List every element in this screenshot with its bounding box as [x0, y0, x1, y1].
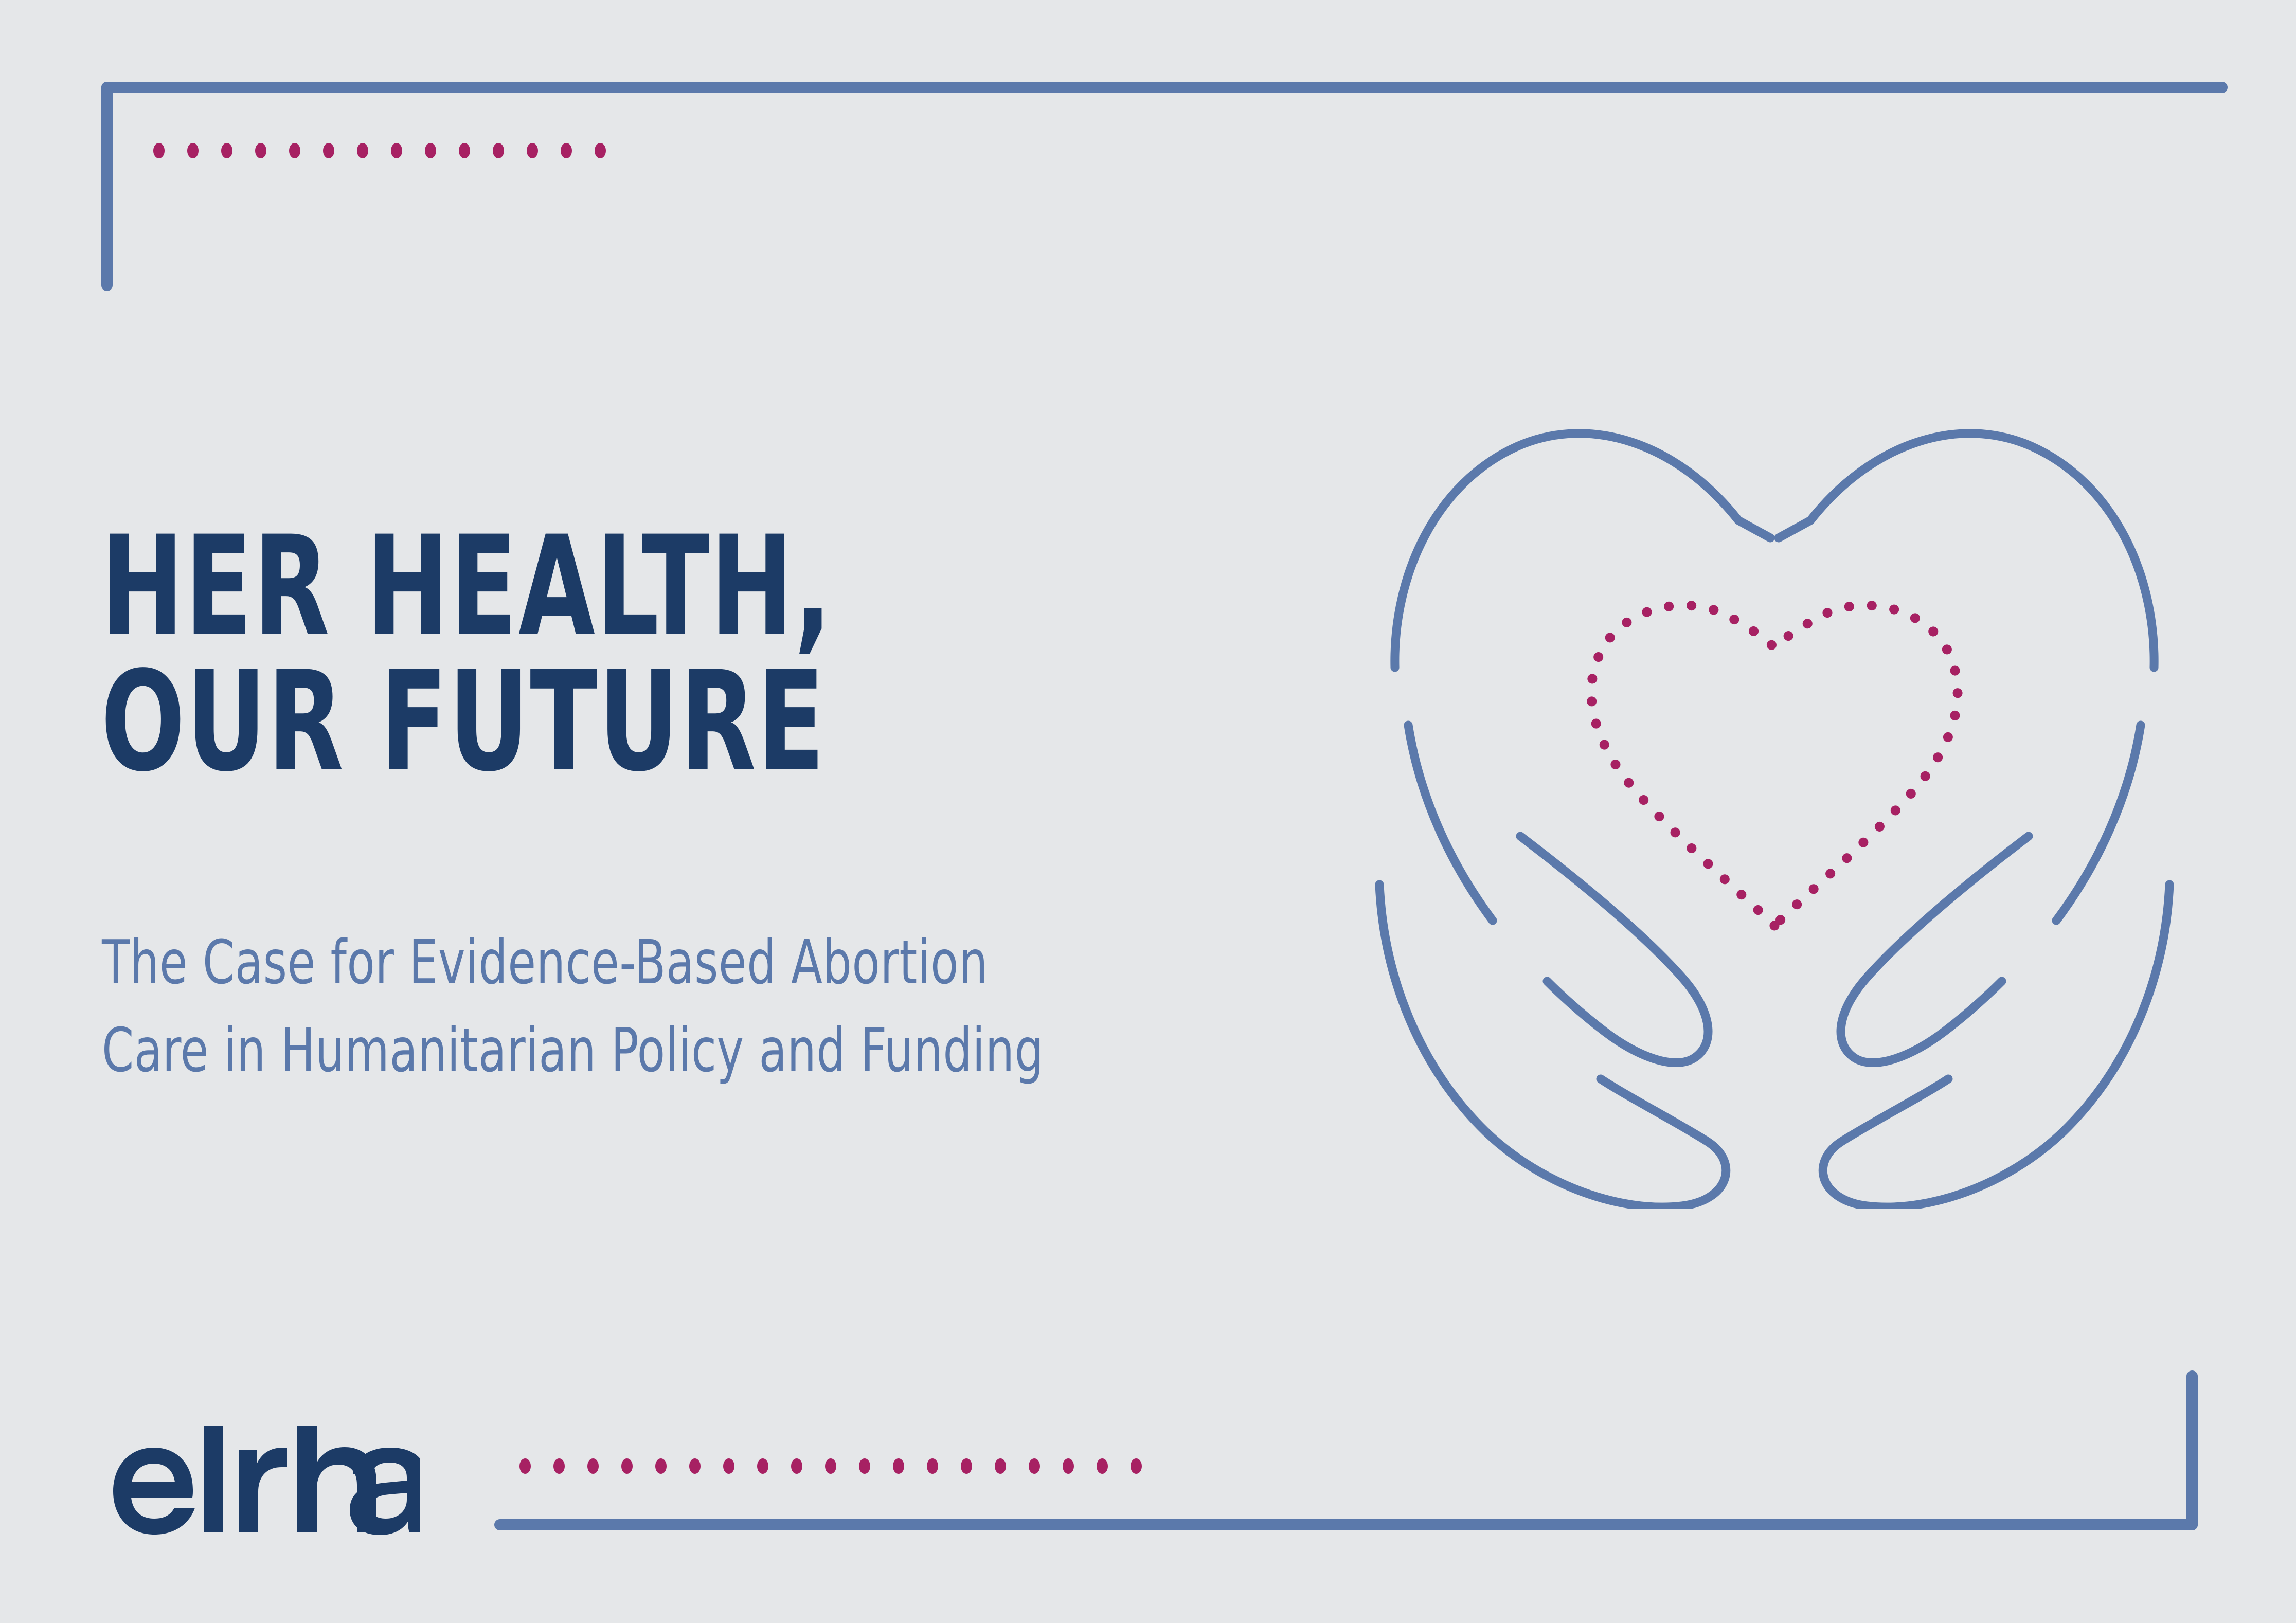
- heart-outline-icon: [1379, 434, 2169, 1207]
- dot: [791, 1458, 802, 1474]
- dot: [187, 143, 199, 158]
- dot: [1029, 1458, 1040, 1474]
- dot: [595, 143, 606, 158]
- dot: [519, 1458, 531, 1474]
- page-subtitle-line-2: Care in Humanitarian Policy and Funding: [102, 1006, 1225, 1094]
- cover-page: HER HEALTH, OUR FUTURE The Case for Evid…: [0, 0, 2296, 1623]
- dot: [289, 143, 300, 158]
- dot: [1131, 1458, 1142, 1474]
- page-title-line-2: OUR FUTURE: [101, 655, 1088, 790]
- dot: [1063, 1458, 1074, 1474]
- elrha-logo: [101, 1420, 420, 1539]
- hands-holding-heart-illustration: [1348, 406, 2201, 1209]
- dot: [757, 1458, 768, 1474]
- dot: [323, 143, 334, 158]
- dotted-rule-top: [153, 143, 629, 158]
- dot: [825, 1458, 836, 1474]
- dot: [553, 1458, 565, 1474]
- dot: [995, 1458, 1006, 1474]
- page-title: HER HEALTH, OUR FUTURE: [101, 519, 1335, 789]
- dot: [255, 143, 266, 158]
- dot: [621, 1458, 633, 1474]
- dot: [893, 1458, 904, 1474]
- dot: [391, 143, 402, 158]
- elrha-wordmark-icon: [101, 1420, 420, 1539]
- dot: [587, 1458, 599, 1474]
- page-subtitle-line-1: The Case for Evidence-Based Abortion: [102, 918, 1225, 1006]
- dot: [561, 143, 572, 158]
- dotted-heart-icon: [1591, 605, 1958, 926]
- dot: [655, 1458, 667, 1474]
- dot: [425, 143, 436, 158]
- dot: [961, 1458, 972, 1474]
- dot: [493, 143, 504, 158]
- dot: [357, 143, 368, 158]
- dot: [221, 143, 232, 158]
- dotted-rule-bottom: [519, 1458, 1164, 1474]
- dot: [1097, 1458, 1108, 1474]
- corner-bracket-top-left-icon: [107, 87, 2222, 285]
- dot: [927, 1458, 938, 1474]
- dot: [859, 1458, 870, 1474]
- dot: [459, 143, 470, 158]
- corner-bracket-bottom-right-icon: [500, 1376, 2192, 1525]
- dot: [689, 1458, 701, 1474]
- dot: [153, 143, 165, 158]
- dot: [527, 143, 538, 158]
- dot: [723, 1458, 734, 1474]
- page-title-line-1: HER HEALTH,: [101, 519, 1088, 655]
- page-subtitle: The Case for Evidence-Based Abortion Car…: [102, 918, 1439, 1094]
